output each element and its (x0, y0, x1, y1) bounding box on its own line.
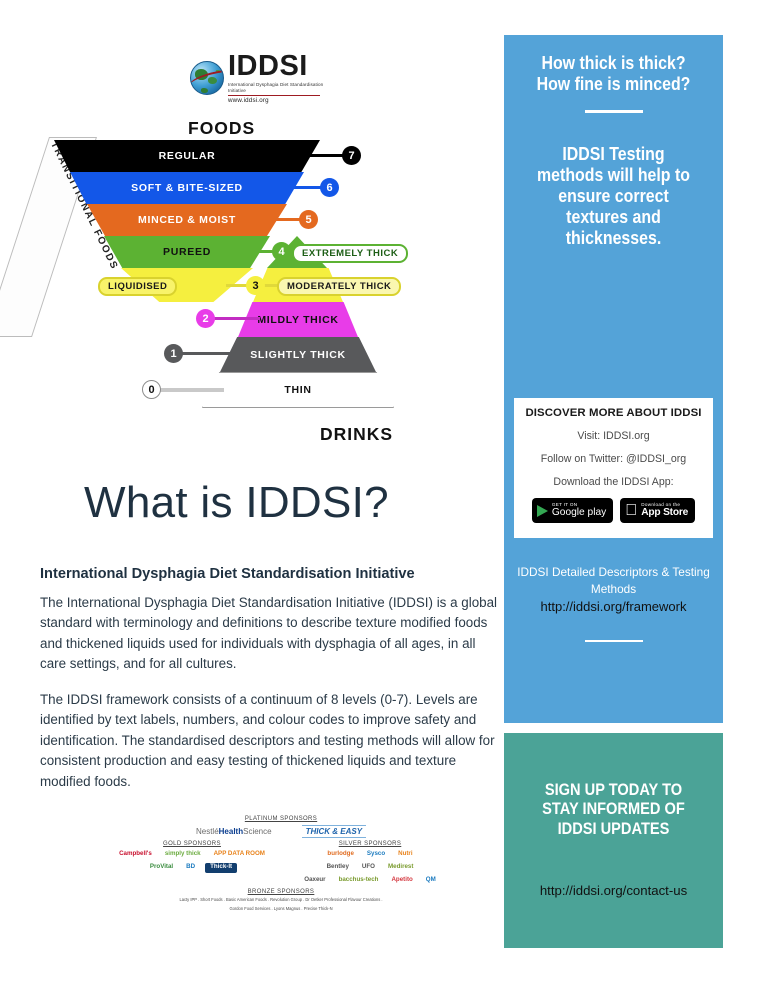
sponsor-columns: GOLD SPONSORS Campbell's simply thick AP… (110, 841, 452, 884)
logo-wordmark: IDDSI (228, 52, 335, 81)
subheading: International Dysphagia Diet Standardisa… (40, 566, 502, 582)
sponsor-logo-medirest: Medirest (385, 863, 416, 872)
sponsor-logo-provital: ProVital (147, 863, 176, 872)
logo-text-block: IDDSI International Dysphagia Diet Stand… (228, 52, 335, 104)
level-1-drink-band: SLIGHTLY THICK (220, 337, 376, 372)
silver-sponsors-title: SILVER SPONSORS (288, 841, 452, 847)
foods-heading: FOODS (188, 118, 255, 139)
logo-rule (228, 95, 320, 96)
sponsor-logo-burlodge: burlodge (324, 850, 356, 859)
level-1-badge: 1 (164, 344, 183, 363)
level-5-food-label: MINCED & MOIST (138, 214, 236, 226)
level-4-food-band: PUREED (104, 236, 270, 268)
signup-heading: SIGN UP TODAY TO STAY INFORMED OF IDDSI … (531, 780, 697, 838)
silver-sponsors-row-3: Oaxeur bacchus-tech Apetito QM (288, 876, 452, 885)
sponsor-logo-qm: QM (423, 876, 439, 885)
app-store-badges: GET IT ON Google play  Download on the … (514, 498, 713, 523)
swoosh-icon (190, 65, 224, 94)
gold-sponsors-row-2: ProVital BD Thick-It (110, 863, 274, 873)
level-5-badge: 5 (299, 210, 318, 229)
left-content-column: IDDSI International Dysphagia Diet Stand… (0, 0, 500, 991)
sponsor-logo-campbells: Campbell's (116, 850, 155, 859)
gold-sponsors-row-1: Campbell's simply thick APP DATA ROOM (110, 850, 274, 859)
iddsi-framework-diagram: FOODS DRINKS TRANSITIONAL FOODS REGULAR … (20, 118, 440, 458)
discover-visit-line[interactable]: Visit: IDDSI.org (514, 430, 713, 442)
level-4-drink-pill: EXTREMELY THICK (292, 244, 408, 263)
silver-sponsors-column: SILVER SPONSORS burlodge Sysco Nutri Ben… (288, 841, 452, 884)
iddsi-logo: IDDSI International Dysphagia Diet Stand… (190, 47, 335, 109)
level-0-drink-band: THIN (202, 372, 394, 408)
logo-tagline: International Dysphagia Diet Standardisa… (228, 82, 335, 93)
bronze-sponsors-line-1: Lacty IPP . Short Foods . Basic American… (110, 897, 452, 903)
platinum-sponsors-title: PLATINUM SPONSORS (110, 816, 452, 822)
silver-sponsors-row-1: burlodge Sysco Nutri (288, 850, 452, 859)
sidebar-divider-bottom (585, 640, 643, 643)
google-play-button[interactable]: GET IT ON Google play (532, 498, 613, 523)
level-5-food-band: MINCED & MOIST (87, 204, 287, 236)
sidebar-question: How thick is thick?How fine is minced? (528, 52, 699, 94)
level-3-drink-pill: MODERATELY THICK (277, 277, 401, 296)
page-root: IDDSI International Dysphagia Diet Stand… (0, 0, 768, 991)
level-7-badge: 7 (342, 146, 361, 165)
signup-link[interactable]: http://iddsi.org/contact-us (504, 883, 723, 898)
google-play-text: GET IT ON Google play (552, 503, 606, 519)
app-store-button[interactable]:  Download on the App Store (620, 498, 695, 523)
silver-sponsors-row-2: Bentley UFO Medirest (288, 863, 452, 872)
bronze-sponsors-line-2: Gordon Food Services . Lyons Magnus . Pr… (110, 906, 452, 912)
bronze-sponsors-title: BRONZE SPONSORS (110, 889, 452, 895)
framework-link[interactable]: http://iddsi.org/framework (510, 599, 717, 614)
apple-icon:  (625, 503, 637, 519)
drinks-heading: DRINKS (320, 424, 393, 445)
discover-download-line: Download the IDDSI App: (514, 476, 713, 488)
level-7-food-label: REGULAR (159, 150, 216, 162)
gold-sponsors-title: GOLD SPONSORS (110, 841, 274, 847)
sponsor-logo-thick-easy: THICK & EASY (302, 825, 366, 838)
level-1-connector (175, 352, 240, 355)
sponsor-logo-simplythick: simply thick (162, 850, 204, 859)
sponsor-logo-oaxeur: Oaxeur (301, 876, 328, 885)
sponsor-logo-nestle: NestléHealthScience (196, 827, 272, 836)
framework-block: IDDSI Detailed Descriptors & Testing Met… (510, 564, 717, 642)
app-store-text: Download on the App Store (641, 503, 688, 519)
level-6-food-label: SOFT & BITE-SIZED (131, 182, 243, 194)
sponsor-logo-thick-it: Thick-It (205, 863, 237, 873)
sponsors-section: PLATINUM SPONSORS NestléHealthScience TH… (110, 816, 452, 928)
page-title: What is IDDSI? (84, 478, 389, 528)
sponsor-logo-nutri: Nutri (395, 850, 415, 859)
sponsor-logo-app-data-room: APP DATA ROOM (211, 850, 268, 859)
gold-sponsors-column: GOLD SPONSORS Campbell's simply thick AP… (110, 841, 274, 884)
level-7-food-band: REGULAR (54, 140, 320, 172)
platinum-sponsors-row: NestléHealthScience THICK & EASY (110, 825, 452, 838)
level-6-food-band: SOFT & BITE-SIZED (70, 172, 304, 204)
sponsor-logo-bentley: Bentley (324, 863, 352, 872)
level-1-drink-label: SLIGHTLY THICK (250, 349, 346, 361)
google-play-big-label: Google play (552, 508, 606, 519)
level-0-connector (152, 388, 224, 392)
sponsor-logo-bd: BD (183, 863, 198, 872)
paragraph-2: The IDDSI framework consists of a contin… (40, 690, 500, 792)
sidebar-statement: IDDSI Testing methods will help to ensur… (535, 143, 692, 248)
level-3-food-pill: LIQUIDISED (98, 277, 177, 296)
level-2-drink-label: MILDLY THICK (257, 314, 338, 326)
sponsor-logo-sysco: Sysco (364, 850, 388, 859)
sponsor-logo-ufo: UFO (359, 863, 378, 872)
sponsor-logo-bacchus-tech: bacchus-tech (336, 876, 382, 885)
level-6-badge: 6 (320, 178, 339, 197)
framework-description: IDDSI Detailed Descriptors & Testing Met… (510, 564, 717, 598)
app-store-big-label: App Store (641, 508, 688, 519)
level-4-badge: 4 (272, 242, 291, 261)
logo-url: www.iddsi.org (228, 98, 335, 104)
level-0-drink-label: THIN (284, 384, 311, 396)
sponsor-logo-apetito: Apetito (388, 876, 415, 885)
level-4-food-label: PUREED (163, 246, 211, 258)
discover-more-card: DISCOVER MORE ABOUT IDDSI Visit: IDDSI.o… (514, 398, 713, 538)
sidebar-teal-panel: SIGN UP TODAY TO STAY INFORMED OF IDDSI … (504, 733, 723, 948)
discover-card-title: DISCOVER MORE ABOUT IDDSI (514, 407, 713, 419)
level-3-badge: 3 (246, 276, 265, 295)
level-2-badge: 2 (196, 309, 215, 328)
level-0-badge: 0 (142, 380, 161, 399)
discover-twitter-line[interactable]: Follow on Twitter: @IDDSI_org (514, 453, 713, 465)
globe-icon (190, 61, 224, 95)
sidebar-divider-top (585, 110, 643, 113)
paragraph-1: The International Dysphagia Diet Standar… (40, 593, 500, 675)
google-play-icon (537, 505, 548, 517)
